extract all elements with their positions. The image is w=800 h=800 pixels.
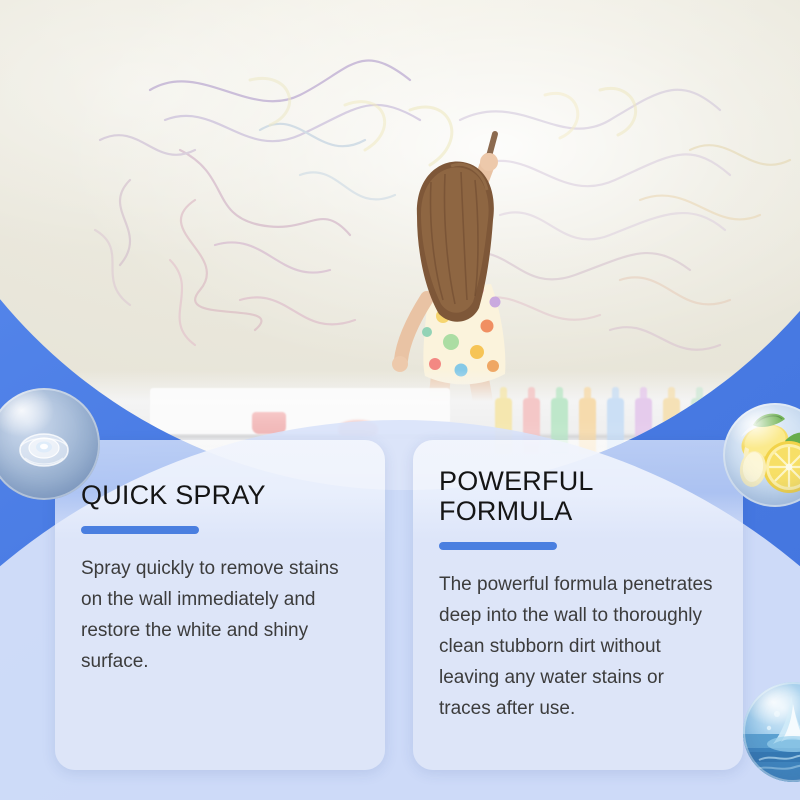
- water-splash-icon: [743, 682, 800, 782]
- card-content: POWERFUL FORMULA The powerful formula pe…: [413, 440, 743, 770]
- hero-photo-image: [0, 0, 800, 490]
- card-title: POWERFUL FORMULA: [439, 466, 717, 526]
- lemon-badge: [723, 403, 800, 507]
- card-content: QUICK SPRAY Spray quickly to remove stai…: [55, 440, 385, 770]
- feature-card-quick-spray[interactable]: QUICK SPRAY Spray quickly to remove stai…: [55, 440, 385, 770]
- card-title: QUICK SPRAY: [81, 480, 359, 510]
- hero-photo-curve-mask: [0, 0, 800, 490]
- feature-card-powerful-formula[interactable]: POWERFUL FORMULA The powerful formula pe…: [413, 440, 743, 770]
- accent-bar: [439, 542, 557, 550]
- card-body-text: Spray quickly to remove stains on the wa…: [81, 554, 359, 677]
- lemon-icon: [723, 403, 800, 507]
- accent-bar: [81, 526, 199, 534]
- card-body-text: The powerful formula penetrates deep int…: [439, 570, 717, 724]
- spray-nozzle-icon: [15, 426, 73, 470]
- product-feature-poster: QUICK SPRAY Spray quickly to remove stai…: [0, 0, 800, 800]
- water-splash-badge: [743, 682, 800, 782]
